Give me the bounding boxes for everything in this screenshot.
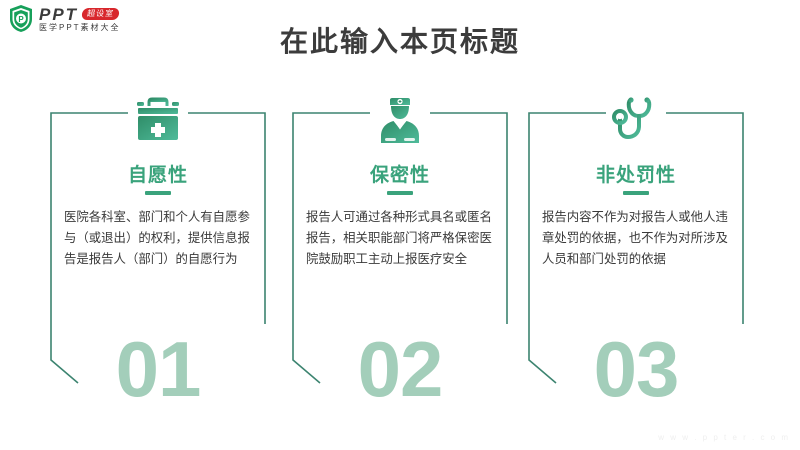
- card-non-punitive[interactable]: 非处罚性 报告内容不作为对报告人或他人违章处罚的依据，也不作为对所涉及人员和部门…: [518, 92, 754, 402]
- card-body-text: 医院各科室、部门和个人有自愿参与（或退出）的权利，提供信息报告是报告人（部门）的…: [64, 207, 252, 270]
- card-heading: 非处罚性: [518, 160, 754, 187]
- card-confidential[interactable]: 保密性 报告人可通过各种形式具名或匿名报告，相关职能部门将严格保密医院鼓励职工主…: [282, 92, 518, 402]
- stethoscope-icon: [518, 92, 754, 150]
- nurse-icon: [282, 92, 518, 150]
- card-number: 03: [518, 330, 754, 408]
- card-body-text: 报告人可通过各种形式具名或匿名报告，相关职能部门将严格保密医院鼓励职工主动上报医…: [306, 207, 494, 270]
- card-heading: 自愿性: [40, 160, 276, 187]
- card-divider: [145, 191, 171, 195]
- cards-container: 自愿性 医院各科室、部门和个人有自愿参与（或退出）的权利，提供信息报告是报告人（…: [0, 92, 800, 402]
- card-body-text: 报告内容不作为对报告人或他人违章处罚的依据，也不作为对所涉及人员和部门处罚的依据: [542, 207, 730, 270]
- card-heading: 保密性: [282, 160, 518, 187]
- card-divider: [623, 191, 649, 195]
- card-divider: [387, 191, 413, 195]
- logo-badge: 超设室: [81, 8, 120, 20]
- card-voluntary[interactable]: 自愿性 医院各科室、部门和个人有自愿参与（或退出）的权利，提供信息报告是报告人（…: [40, 92, 276, 402]
- medical-kit-icon: [40, 92, 276, 150]
- card-number: 01: [40, 330, 276, 408]
- card-number: 02: [282, 330, 518, 408]
- footer-watermark: w w w . p p t e r . c o m: [658, 433, 790, 442]
- page-title: 在此输入本页标题: [0, 20, 800, 60]
